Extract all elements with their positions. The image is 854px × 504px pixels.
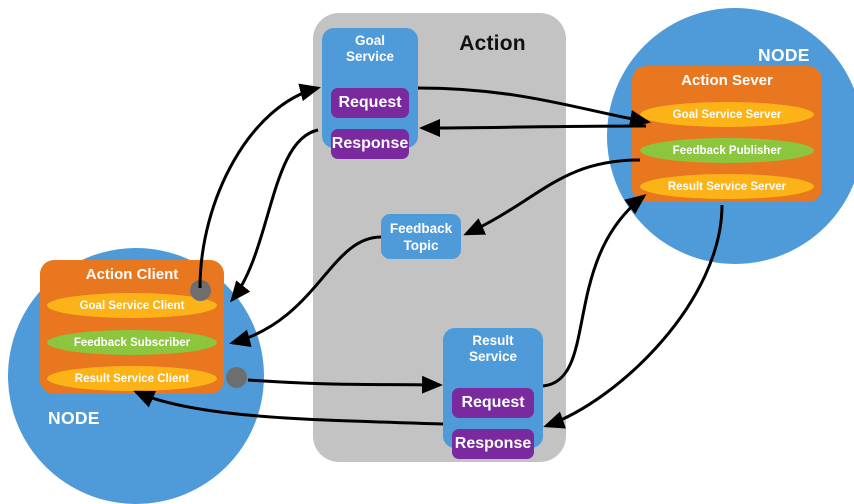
- feedback-topic-line2: Topic: [404, 237, 439, 254]
- server-node-label: NODE: [758, 45, 810, 66]
- diagram-canvas: Action Action Client Goal Service Client…: [0, 0, 854, 480]
- feedback-subscriber-entity[interactable]: Feedback Subscriber: [47, 330, 217, 355]
- goal-client-connector-dot: [190, 280, 211, 301]
- result-client-connector-dot: [226, 367, 247, 388]
- result-service-server-entity[interactable]: Result Service Server: [640, 174, 814, 199]
- goal-service-title: Goal Service: [322, 33, 418, 65]
- action-server-title: Action Sever: [632, 72, 822, 89]
- result-service-request[interactable]: Request: [452, 388, 534, 418]
- goal-service-title-line2: Service: [346, 49, 394, 64]
- feedback-topic-line1: Feedback: [390, 220, 452, 237]
- result-service-client-entity[interactable]: Result Service Client: [47, 366, 217, 391]
- feedback-publisher-entity[interactable]: Feedback Publisher: [640, 138, 814, 163]
- goal-service-server-entity[interactable]: Goal Service Server: [640, 102, 814, 127]
- arrow-response-to-goalclient: [232, 130, 318, 300]
- result-service-title-line2: Service: [469, 349, 517, 364]
- goal-service-response[interactable]: Response: [331, 129, 409, 159]
- goal-service-box: Goal Service Request Response: [322, 28, 418, 148]
- result-service-title: Result Service: [443, 333, 543, 365]
- arrow-goalclient-to-request: [200, 88, 318, 288]
- goal-service-request[interactable]: Request: [331, 88, 409, 118]
- action-panel-title: Action: [430, 32, 555, 56]
- client-node-label: NODE: [48, 408, 100, 429]
- result-service-response[interactable]: Response: [452, 429, 534, 459]
- feedback-topic-box[interactable]: Feedback Topic: [381, 214, 461, 259]
- result-service-title-line1: Result: [472, 333, 513, 348]
- action-server-box: Action Sever Goal Service Server Feedbac…: [632, 66, 822, 202]
- goal-service-title-line1: Goal: [355, 33, 385, 48]
- result-service-box: Result Service Request Response: [443, 328, 543, 448]
